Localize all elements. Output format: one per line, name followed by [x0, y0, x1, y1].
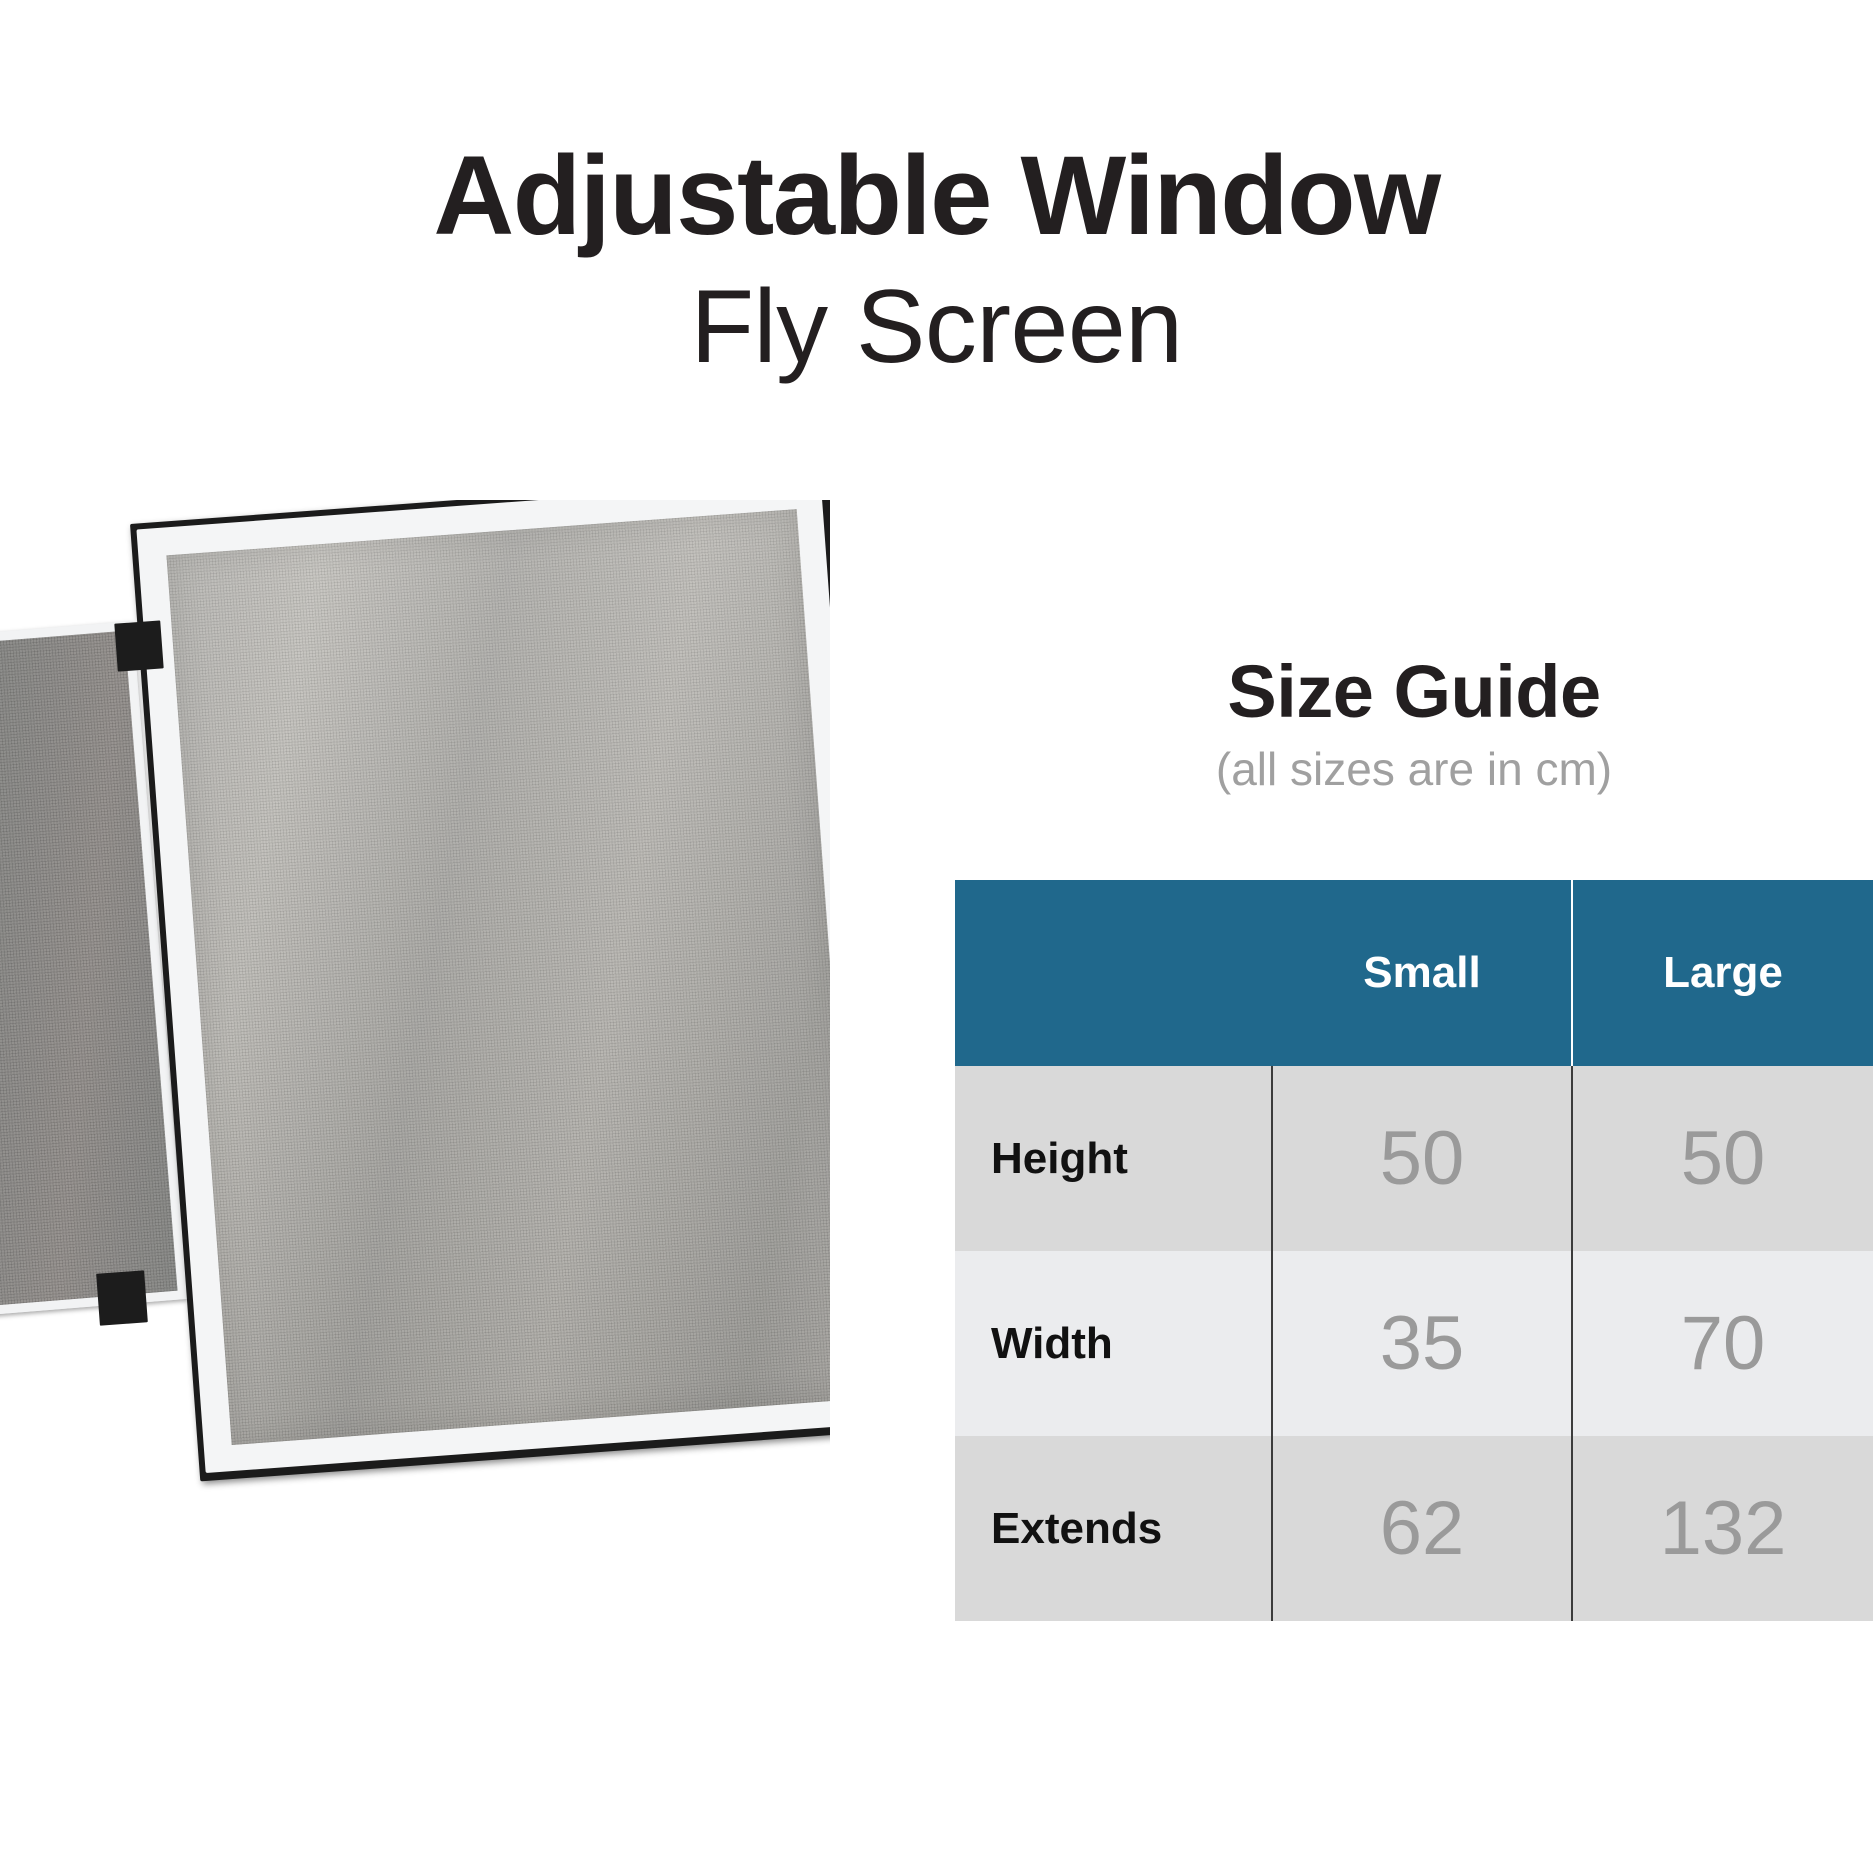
product-photo — [0, 500, 830, 1530]
column-header-small: Small — [1272, 880, 1572, 1066]
row-label-extends: Extends — [955, 1436, 1272, 1621]
table-row: Height 50 50 — [955, 1066, 1873, 1251]
cell-width-large: 70 — [1572, 1251, 1873, 1436]
page-title-line-2: Fly Screen — [0, 257, 1873, 390]
column-header-blank — [955, 880, 1272, 1066]
size-guide-title: Size Guide — [955, 655, 1873, 729]
bottom-connector-block — [96, 1270, 148, 1325]
table-row: Extends 62 132 — [955, 1436, 1873, 1621]
front-sliding-panel — [130, 500, 830, 1481]
size-table-body: Height 50 50 Width 35 70 Extends 62 132 — [955, 1066, 1873, 1621]
size-guide-header: Size Guide (all sizes are in cm) — [955, 655, 1873, 799]
table-header-row: Small Large — [955, 880, 1873, 1066]
front-panel-mesh — [166, 509, 830, 1445]
cell-extends-large: 132 — [1572, 1436, 1873, 1621]
size-guide-table: Small Large Height 50 50 Width 35 70 Ext… — [955, 880, 1873, 1621]
row-label-height: Height — [955, 1066, 1272, 1251]
table-row: Width 35 70 — [955, 1251, 1873, 1436]
size-guide-subtitle: (all sizes are in cm) — [955, 729, 1873, 799]
cell-height-small: 50 — [1272, 1066, 1572, 1251]
cell-extends-small: 62 — [1272, 1436, 1572, 1621]
size-table-header: Small Large — [955, 880, 1873, 1066]
cell-width-small: 35 — [1272, 1251, 1572, 1436]
fly-screen-illustration — [0, 500, 830, 1530]
page-header: Adjustable Window Fly Screen — [0, 0, 1873, 390]
top-connector-block — [114, 620, 163, 671]
column-header-large: Large — [1572, 880, 1873, 1066]
cell-height-large: 50 — [1572, 1066, 1873, 1251]
page-title-line-1: Adjustable Window — [0, 136, 1873, 257]
row-label-width: Width — [955, 1251, 1272, 1436]
